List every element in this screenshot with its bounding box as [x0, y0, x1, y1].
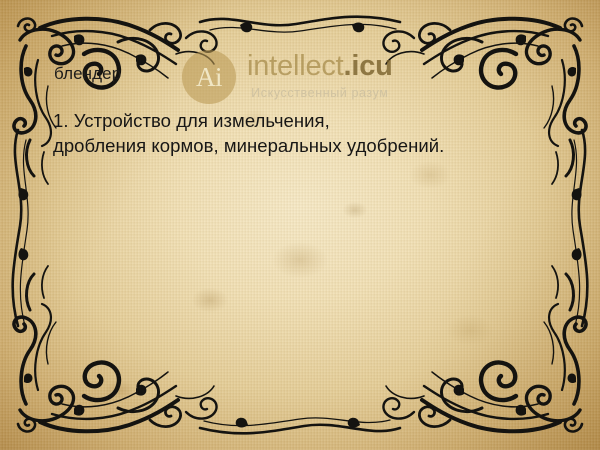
corner-flourish-bottom-right: [383, 266, 586, 431]
definition-line: 1. Устройство для измельчения,: [53, 108, 513, 133]
watermark-site-name-main: intellect: [247, 50, 344, 82]
site-watermark: Ai intellect.icu Искусственный разум: [182, 48, 393, 104]
watermark-tagline: Искусственный разум: [247, 86, 393, 100]
edge-scroll-top: [200, 17, 400, 33]
watermark-site-name: intellect.icu: [247, 52, 393, 81]
watermark-site-name-tld: .icu: [344, 50, 393, 82]
ai-logo-icon: Ai: [182, 50, 236, 104]
entry-definition: 1. Устройство для измельчения, дробления…: [53, 108, 513, 158]
watermark-wordmark: intellect.icu Искусственный разум: [247, 48, 393, 100]
definition-line: дробления кормов, минеральных удобрений.: [53, 133, 513, 158]
corner-flourish-bottom-left: [14, 266, 217, 431]
entry-headword: блендер: [54, 64, 121, 84]
corner-flourish-top-right: [383, 19, 586, 184]
edge-scroll-bottom: [200, 418, 400, 434]
edge-scroll-left: [13, 130, 29, 326]
ai-logo-text: Ai: [196, 64, 222, 91]
parchment-page: Ai intellect.icu Искусственный разум бле…: [0, 0, 600, 450]
edge-scroll-right: [572, 130, 588, 326]
